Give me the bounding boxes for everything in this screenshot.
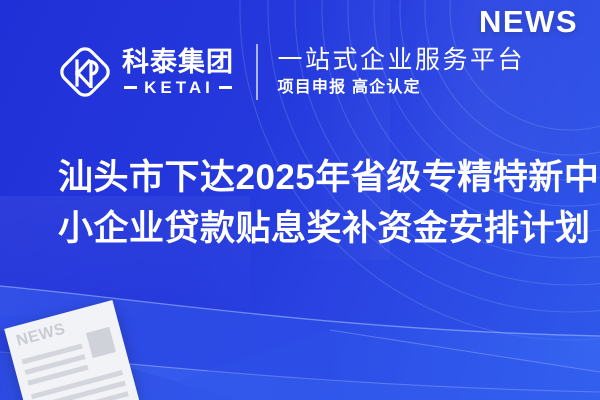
brand-name-en-row: KETAI	[122, 79, 234, 96]
wordmark-dash-right	[219, 86, 232, 89]
header-divider	[256, 44, 258, 100]
page-title: 汕头市下达2025年省级专精特新中 小企业贷款贴息奖补资金安排计划	[58, 152, 558, 254]
slogan-main: 一站式企业服务平台	[278, 46, 526, 74]
page-title-line-2: 小企业贷款贴息奖补资金安排计划	[58, 203, 558, 254]
page-title-line-1: 汕头市下达2025年省级专精特新中	[58, 152, 558, 203]
news-label: NEWS	[479, 6, 578, 37]
brand-name-cn: 科泰集团	[122, 48, 234, 76]
brand-wordmark: 科泰集团 KETAI	[122, 48, 234, 96]
newspaper-headline: NEWS	[15, 321, 67, 349]
brand-name-en: KETAI	[144, 79, 214, 96]
brand-logo[interactable]: 科泰集团 KETAI	[58, 45, 234, 99]
slogan-block: 一站式企业服务平台 项目申报 高企认定	[278, 46, 526, 99]
ketai-diamond-kd-logo-icon	[58, 45, 112, 99]
news-banner: NEWS 科泰集团	[0, 0, 600, 400]
image-placeholder-icon	[86, 327, 116, 358]
slogan-sub: 项目申报 高企认定	[278, 78, 526, 99]
banner-header: 科泰集团 KETAI 一站式企业服务平台 项目申报 高企认定	[0, 34, 600, 110]
wordmark-dash-left	[124, 86, 137, 89]
